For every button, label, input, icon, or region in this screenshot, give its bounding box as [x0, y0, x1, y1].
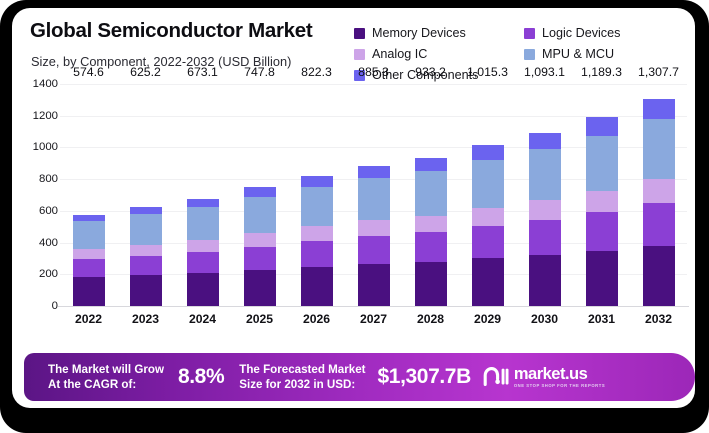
bar-segment[interactable]	[415, 232, 447, 261]
legend-swatch-icon	[354, 49, 365, 60]
bar-segment[interactable]	[130, 245, 162, 256]
bar-segment[interactable]	[301, 241, 333, 267]
y-axis-tick-label: 200	[12, 268, 58, 280]
bar-segment[interactable]	[244, 197, 276, 233]
bar-segment[interactable]	[415, 171, 447, 215]
logo-text: market.us ONE STOP SHOP FOR THE REPORTS	[514, 366, 605, 389]
legend-item[interactable]: Analog IC	[354, 47, 427, 61]
legend-label: Memory Devices	[372, 26, 466, 40]
bar-segment[interactable]	[130, 214, 162, 245]
chart-plot-area: 0200400600800100012001400 574.6625.2673.…	[12, 84, 695, 346]
bar-total-label: 1,189.3	[581, 65, 622, 79]
bar-segment[interactable]	[130, 256, 162, 275]
bar-segment[interactable]	[472, 258, 504, 306]
bar-segment[interactable]	[187, 207, 219, 240]
x-axis-tick-label: 2026	[288, 312, 345, 334]
bar-series-group: 574.6625.2673.1747.8822.3885.3933.21,015…	[60, 84, 687, 306]
bar-segment[interactable]	[73, 221, 105, 249]
bar-segment[interactable]	[187, 273, 219, 306]
x-axis-tick-label: 2022	[60, 312, 117, 334]
bar-group[interactable]: 625.2	[117, 84, 174, 306]
legend-label: Analog IC	[372, 47, 427, 61]
bar-segment[interactable]	[244, 233, 276, 246]
bar-stack	[301, 176, 333, 306]
y-axis-tick-label: 0	[12, 300, 58, 312]
logo-mark-icon	[483, 367, 509, 386]
screenshot-frame: Global Semiconductor Market Size, by Com…	[0, 0, 709, 433]
x-axis-tick-label: 2032	[630, 312, 687, 334]
bar-segment[interactable]	[643, 246, 675, 306]
bar-total-label: 1,015.3	[467, 65, 508, 79]
bar-group[interactable]: 1,189.3	[573, 84, 630, 306]
bar-segment[interactable]	[358, 220, 390, 236]
bar-total-label: 1,093.1	[524, 65, 565, 79]
x-axis-tick-label: 2024	[174, 312, 231, 334]
bar-stack	[586, 117, 618, 306]
bar-segment[interactable]	[358, 264, 390, 306]
bar-segment[interactable]	[529, 149, 561, 200]
legend-swatch-icon	[524, 28, 535, 39]
bar-segment[interactable]	[415, 262, 447, 306]
bar-stack	[643, 99, 675, 306]
bar-total-label: 1,307.7	[638, 65, 679, 79]
bar-segment[interactable]	[301, 187, 333, 226]
x-axis-tick-label: 2028	[402, 312, 459, 334]
bar-group[interactable]: 673.1	[174, 84, 231, 306]
x-axis-tick-label: 2029	[459, 312, 516, 334]
chart-card: Global Semiconductor Market Size, by Com…	[12, 8, 695, 408]
bar-segment[interactable]	[586, 212, 618, 250]
bar-segment[interactable]	[586, 191, 618, 213]
bar-segment[interactable]	[643, 119, 675, 179]
bar-group[interactable]: 885.3	[345, 84, 402, 306]
bar-group[interactable]: 933.2	[402, 84, 459, 306]
bar-segment[interactable]	[415, 158, 447, 171]
bar-segment[interactable]	[187, 240, 219, 252]
bar-segment[interactable]	[472, 145, 504, 160]
bar-segment[interactable]	[529, 200, 561, 220]
y-axis-tick-label: 1200	[12, 110, 58, 122]
y-axis-tick-label: 1400	[12, 78, 58, 90]
bar-stack	[244, 187, 276, 306]
bar-total-label: 885.3	[358, 65, 389, 79]
bar-stack	[472, 145, 504, 306]
bar-total-label: 933.2	[415, 65, 446, 79]
cagr-value: 8.8%	[178, 365, 224, 389]
y-axis-tick-label: 1000	[12, 141, 58, 153]
summary-banner: The Market will Grow At the CAGR of: 8.8…	[24, 353, 695, 401]
bar-segment[interactable]	[73, 277, 105, 306]
bar-segment[interactable]	[529, 255, 561, 306]
bar-segment[interactable]	[301, 226, 333, 241]
bar-segment[interactable]	[643, 179, 675, 203]
bar-segment[interactable]	[301, 176, 333, 187]
bar-segment[interactable]	[301, 267, 333, 306]
page-title: Global Semiconductor Market	[30, 19, 312, 43]
bar-segment[interactable]	[130, 275, 162, 306]
legend-label: Logic Devices	[542, 26, 620, 40]
cagr-label: The Market will Grow At the CAGR of:	[48, 362, 164, 393]
bar-group[interactable]: 1,307.7	[630, 84, 687, 306]
forecast-label-line1: The Forecasted Market	[239, 363, 365, 376]
bar-stack	[73, 215, 105, 306]
forecast-label-line2: Size for 2032 in USD:	[239, 378, 355, 391]
legend-label: MPU & MCU	[542, 47, 614, 61]
bar-segment[interactable]	[187, 252, 219, 273]
bar-group[interactable]: 1,015.3	[459, 84, 516, 306]
bar-total-label: 673.1	[187, 65, 218, 79]
y-axis-labels: 0200400600800100012001400	[12, 84, 58, 306]
bar-segment[interactable]	[358, 236, 390, 264]
y-axis-tick-label: 400	[12, 237, 58, 249]
bar-segment[interactable]	[586, 117, 618, 135]
bar-segment[interactable]	[586, 136, 618, 191]
bar-total-label: 574.6	[73, 65, 104, 79]
logo-tagline: ONE STOP SHOP FOR THE REPORTS	[514, 384, 605, 388]
legend-swatch-icon	[354, 28, 365, 39]
bar-segment[interactable]	[130, 207, 162, 214]
bar-group[interactable]: 822.3	[288, 84, 345, 306]
x-axis-labels: 2022202320242025202620272028202920302031…	[60, 312, 687, 334]
bar-segment[interactable]	[643, 99, 675, 119]
bar-stack	[415, 158, 447, 306]
bar-stack	[358, 166, 390, 306]
bar-segment[interactable]	[244, 187, 276, 197]
x-axis-tick-label: 2025	[231, 312, 288, 334]
legend-item[interactable]: Memory Devices	[354, 26, 466, 40]
bar-segment[interactable]	[529, 133, 561, 150]
bar-segment[interactable]	[643, 203, 675, 246]
x-axis-tick-label: 2027	[345, 312, 402, 334]
legend-swatch-icon	[524, 49, 535, 60]
bar-group[interactable]: 747.8	[231, 84, 288, 306]
x-axis-tick-label: 2030	[516, 312, 573, 334]
cagr-label-line2: At the CAGR of:	[48, 378, 136, 391]
bar-total-label: 822.3	[301, 65, 332, 79]
bar-group[interactable]: 574.6	[60, 84, 117, 306]
legend-item[interactable]: MPU & MCU	[524, 47, 614, 61]
bar-segment[interactable]	[586, 251, 618, 306]
forecast-value: $1,307.7B	[378, 365, 471, 389]
bar-segment[interactable]	[472, 226, 504, 258]
bar-segment[interactable]	[529, 220, 561, 255]
bar-segment[interactable]	[73, 249, 105, 259]
bar-total-label: 747.8	[244, 65, 275, 79]
y-axis-tick-label: 600	[12, 205, 58, 217]
bar-stack	[130, 207, 162, 306]
bar-segment[interactable]	[187, 199, 219, 207]
chart-legend: Memory DevicesLogic DevicesAnalog ICMPU …	[350, 22, 686, 84]
x-axis-baseline	[58, 306, 689, 307]
bar-segment[interactable]	[73, 259, 105, 276]
x-axis-tick-label: 2023	[117, 312, 174, 334]
bar-segment[interactable]	[472, 208, 504, 226]
bar-stack	[529, 133, 561, 306]
legend-item[interactable]: Logic Devices	[524, 26, 620, 40]
bar-segment[interactable]	[415, 216, 447, 233]
cagr-label-line1: The Market will Grow	[48, 363, 164, 376]
bar-segment[interactable]	[358, 166, 390, 179]
forecast-label: The Forecasted Market Size for 2032 in U…	[239, 362, 365, 393]
market-us-logo: market.us ONE STOP SHOP FOR THE REPORTS	[483, 366, 605, 389]
y-axis-tick-label: 800	[12, 173, 58, 185]
bar-segment[interactable]	[244, 270, 276, 306]
bar-segment[interactable]	[244, 247, 276, 270]
bar-stack	[187, 199, 219, 306]
bar-group[interactable]: 1,093.1	[516, 84, 573, 306]
logo-name: market.us	[514, 366, 605, 383]
bar-segment[interactable]	[472, 160, 504, 208]
bar-total-label: 625.2	[130, 65, 161, 79]
x-axis-tick-label: 2031	[573, 312, 630, 334]
bar-segment[interactable]	[358, 178, 390, 220]
